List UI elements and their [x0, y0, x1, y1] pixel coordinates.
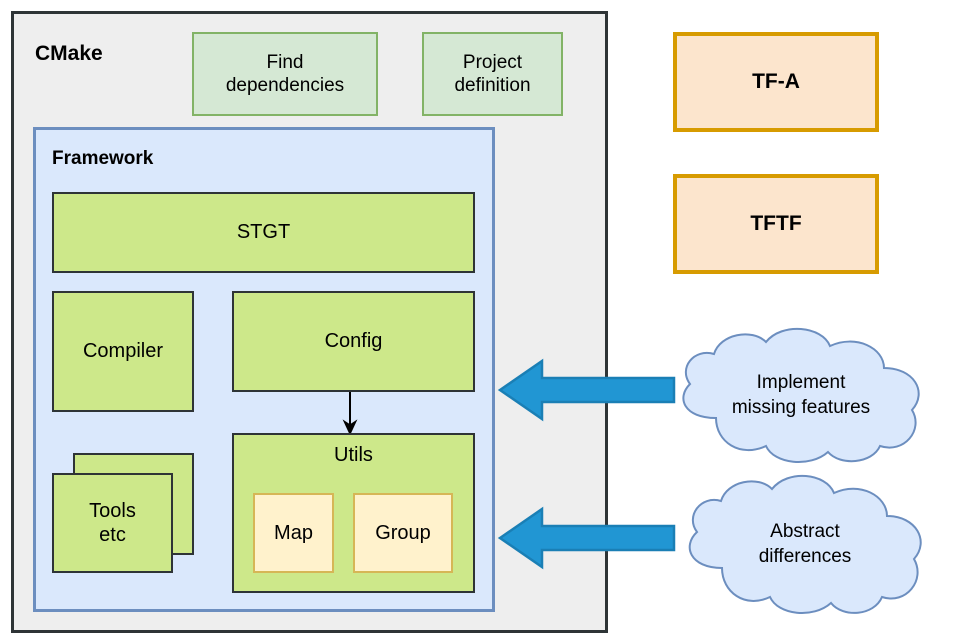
- config-to-utils-arrow: [340, 392, 360, 435]
- config-box: Config: [232, 291, 475, 392]
- framework-label: Framework: [52, 148, 153, 170]
- group-box: Group: [353, 493, 453, 573]
- project-definition-line1: Project: [463, 52, 522, 73]
- find-dependencies-box: Find dependencies: [192, 32, 378, 116]
- group-label: Group: [375, 521, 431, 545]
- tfa-box: TF-A: [673, 32, 879, 132]
- config-label: Config: [325, 329, 383, 353]
- cloud-shape-icon: [670, 326, 932, 466]
- stgt-box: STGT: [52, 192, 475, 273]
- implement-missing-features-cloud: Implement missing features: [670, 326, 932, 466]
- stgt-label: STGT: [237, 220, 290, 244]
- project-definition-line2: definition: [454, 75, 530, 96]
- tools-front-box: Tools etc: [52, 473, 173, 573]
- project-definition-label: Project definition: [454, 51, 530, 97]
- tftf-box: TFTF: [673, 174, 879, 274]
- tools-label: Tools etc: [89, 499, 136, 548]
- tfa-label: TF-A: [752, 69, 800, 95]
- tftf-label: TFTF: [750, 211, 801, 237]
- tools-line2: etc: [99, 524, 126, 546]
- compiler-label: Compiler: [83, 339, 163, 363]
- project-definition-box: Project definition: [422, 32, 563, 116]
- utils-label: Utils: [334, 443, 373, 467]
- compiler-box: Compiler: [52, 291, 194, 412]
- abstract-differences-cloud: Abstract differences: [678, 472, 932, 618]
- cloud-shape-icon: [678, 472, 932, 618]
- map-box: Map: [253, 493, 334, 573]
- cmake-label: CMake: [35, 42, 103, 66]
- diagram-canvas: CMake Find dependencies Project definiti…: [0, 0, 964, 644]
- find-dependencies-label: Find dependencies: [226, 51, 344, 97]
- map-label: Map: [274, 521, 313, 545]
- find-dependencies-line2: dependencies: [226, 75, 344, 96]
- abstract-differences-arrow: [497, 506, 677, 570]
- find-dependencies-line1: Find: [267, 52, 304, 73]
- tools-line1: Tools: [89, 500, 136, 522]
- implement-missing-features-arrow: [497, 358, 677, 422]
